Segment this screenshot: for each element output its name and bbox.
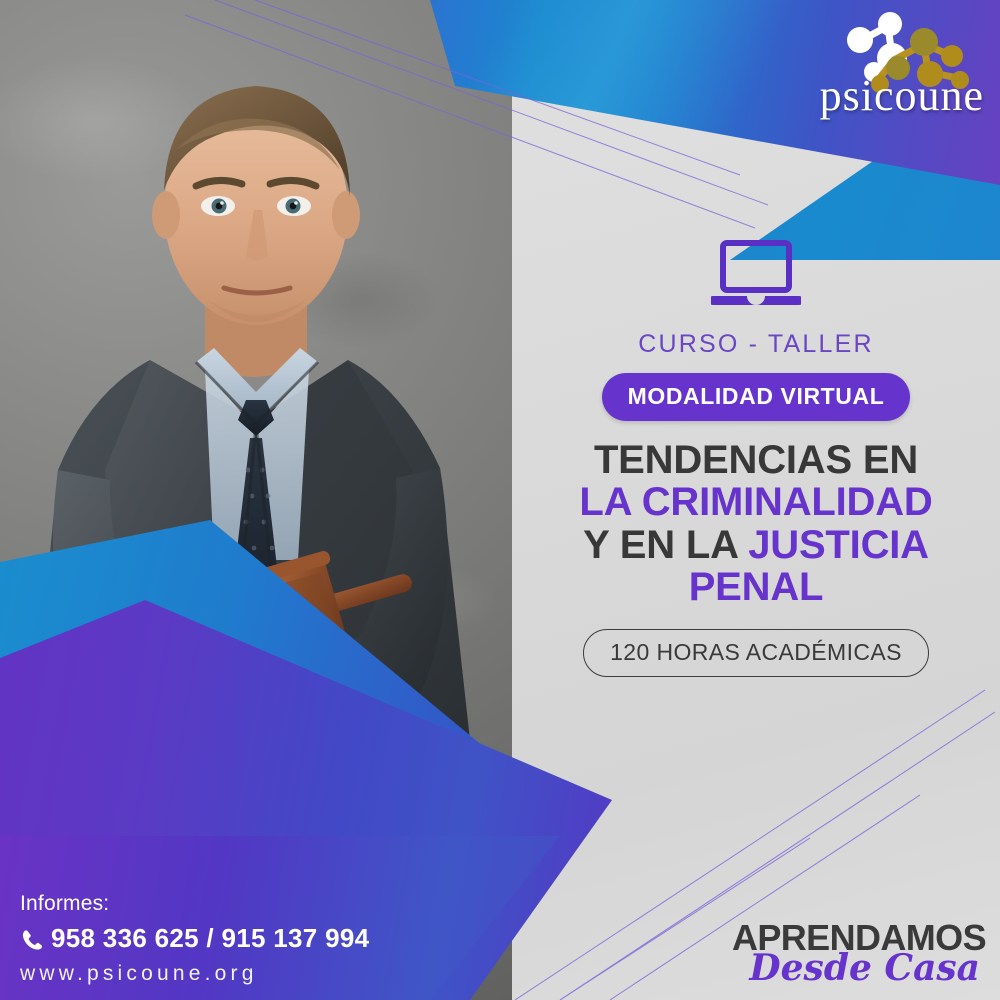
tagline-line-2: Desde Casa <box>732 950 980 986</box>
page-title: TENDENCIAS EN LA CRIMINALIDAD Y EN LA JU… <box>520 439 992 609</box>
headline-line-2: LA CRIMINALIDAD <box>520 481 992 523</box>
headline-line-3-purple: JUSTICIA <box>748 523 929 567</box>
phone-numbers: 958 336 625 / 915 137 994 <box>51 923 369 954</box>
laptop-icon <box>711 240 801 312</box>
phone-icon <box>20 928 42 950</box>
headline-line-1: TENDENCIAS EN <box>520 439 992 481</box>
informes-label: Informes: <box>20 892 380 916</box>
logo-wordmark: psicoune <box>794 74 984 118</box>
brand-logo[interactable]: psicoune <box>794 12 984 122</box>
tagline-block: APRENDAMOS Desde Casa <box>732 920 986 986</box>
website-link[interactable]: www.psicoune.org <box>20 962 380 986</box>
hours-badge: 120 HORAS ACADÉMICAS <box>583 629 929 677</box>
headline-line-3-dark: Y EN LA <box>583 523 737 567</box>
contact-block: Informes: 958 336 625 / 915 137 994 www.… <box>20 892 380 986</box>
phone-row[interactable]: 958 336 625 / 915 137 994 <box>20 923 380 954</box>
flyer-canvas: psicoune CURSO - TALLER MODALIDAD VIRTUA… <box>0 0 1000 1000</box>
course-info-block: CURSO - TALLER MODALIDAD VIRTUAL TENDENC… <box>520 240 992 677</box>
modality-badge: MODALIDAD VIRTUAL <box>602 373 911 421</box>
kicker-text: CURSO - TALLER <box>520 330 992 359</box>
headline-line-4: PENAL <box>520 566 992 608</box>
headline-line-3: Y EN LA JUSTICIA <box>520 524 992 566</box>
